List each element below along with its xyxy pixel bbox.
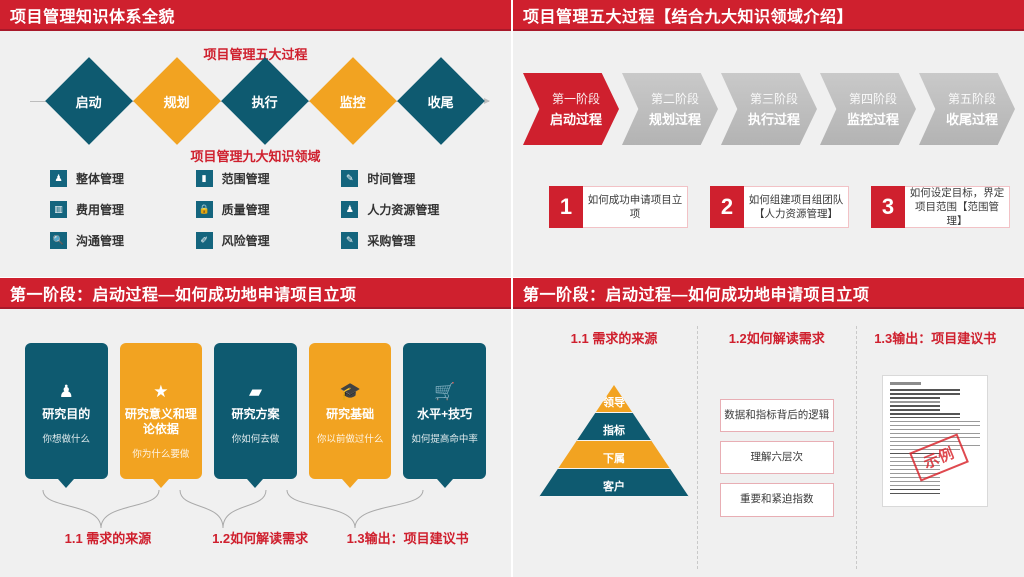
- doc-line: [890, 493, 940, 495]
- growth-chart-icon: ▰: [249, 383, 262, 400]
- detail-columns: 1.1 需求的来源 领导指标下属客户 1.2如何解读需求 数据和指标背后的逻辑理…: [531, 326, 1014, 569]
- knowledge-area-item[interactable]: 🔒质量管理: [196, 201, 342, 218]
- five-process-diagram: 启动规划执行监控收尾: [0, 70, 511, 132]
- topic-text: 如何成功申请项目立项: [583, 186, 688, 228]
- knowledge-area-label: 质量管理: [222, 201, 270, 218]
- research-card-title: 研究意义和理论依据: [120, 407, 203, 437]
- panel3-title: 第一阶段：启动过程—如何成功地申请项目立项: [0, 281, 357, 305]
- knowledge-area-label: 采购管理: [367, 232, 415, 249]
- graduation-cap-icon: 🎓: [339, 383, 360, 400]
- stage-chevron-line1: 第四阶段: [839, 90, 897, 107]
- panel4-title: 第一阶段：启动过程—如何成功地申请项目立项: [513, 281, 870, 305]
- panel-five-stages: 项目管理五大过程【结合九大知识领域介绍】 第一阶段启动过程第二阶段规划过程第三阶…: [513, 0, 1024, 277]
- col2-title: 1.2如何解读需求: [706, 328, 848, 347]
- pen-icon: ✐: [196, 232, 213, 249]
- col3-title: 1.3输出：项目建议书: [865, 328, 1007, 347]
- nine-knowledge-title: 项目管理九大知识领域: [0, 146, 511, 165]
- numbered-topics-row: 1如何成功申请项目立项2如何组建项目组团队【人力资源管理】3如何设定目标，界定项…: [549, 186, 1010, 228]
- research-card-subtitle: 你如何去做: [232, 431, 280, 445]
- topic-number-badge: 2: [710, 186, 744, 228]
- research-card-title: 水平+技巧: [417, 407, 472, 422]
- brace-connectors: [25, 490, 486, 532]
- stage-chevron-line1: 第二阶段: [641, 90, 699, 107]
- pencil-icon: ✎: [341, 232, 358, 249]
- pyramid-level-4[interactable]: 客户: [539, 469, 689, 497]
- process-diamond-label: 收尾: [428, 91, 454, 110]
- search-icon: 🔍: [50, 232, 67, 249]
- panel-stage1-cards: 第一阶段：启动过程—如何成功地申请项目立项 ♟研究目的你想做什么★研究意义和理论…: [0, 278, 511, 577]
- doc-line: [890, 397, 940, 399]
- doc-line: [890, 389, 960, 391]
- research-card-title: 研究基础: [326, 407, 374, 422]
- interpretation-box-3[interactable]: 重要和紧迫指数: [720, 483, 834, 516]
- panel2-header: 项目管理五大过程【结合九大知识领域介绍】: [513, 0, 1024, 31]
- process-diamond-1[interactable]: 启动: [45, 57, 133, 145]
- stakeholder-pyramid: 领导指标下属客户: [539, 385, 689, 497]
- doc-title-bar: [890, 382, 921, 385]
- slide-grid: 项目管理知识体系全貌 项目管理五大过程 启动规划执行监控收尾 项目管理九大知识领…: [0, 0, 1024, 577]
- research-card-4[interactable]: 🎓研究基础你以前做过什么: [309, 343, 392, 479]
- briefcase-icon: ▮: [196, 170, 213, 187]
- doc-line: [890, 429, 960, 431]
- stage-chevron-5[interactable]: 第五阶段收尾过程: [919, 73, 1015, 145]
- topic-number-badge: 1: [549, 186, 583, 228]
- doc-line: [890, 393, 960, 395]
- brace-svg: [25, 490, 486, 532]
- interpretation-box-2[interactable]: 理解六层次: [720, 441, 834, 474]
- doc-line: [890, 417, 960, 419]
- stage-chevron-line2: 启动过程: [540, 109, 602, 128]
- process-diamond-label: 执行: [252, 91, 278, 110]
- person-icon: ♟: [59, 383, 74, 400]
- stage-chevron-1[interactable]: 第一阶段启动过程: [523, 73, 619, 145]
- stage-chevron-line1: 第一阶段: [542, 90, 600, 107]
- proposal-document-thumbnail: 示例: [882, 375, 988, 507]
- process-diamond-label: 启动: [76, 91, 102, 110]
- pyramid-level-label: 领导: [603, 394, 625, 410]
- process-diamond-label: 监控: [340, 91, 366, 110]
- process-diamond-4[interactable]: 监控: [309, 57, 397, 145]
- panel2-title: 项目管理五大过程【结合九大知识领域介绍】: [513, 3, 853, 27]
- research-card-title: 研究目的: [42, 407, 90, 422]
- label-1-2: 1.2如何解读需求: [191, 528, 329, 547]
- pyramid-level-1[interactable]: 领导: [595, 385, 633, 413]
- panel1-header: 项目管理知识体系全貌: [0, 0, 511, 31]
- doc-line: [890, 401, 940, 403]
- pyramid-level-2[interactable]: 指标: [577, 413, 652, 441]
- topic-text: 如何设定目标，界定项目范围【范围管理】: [905, 186, 1010, 228]
- research-card-3[interactable]: ▰研究方案你如何去做: [214, 343, 297, 479]
- doc-line: [890, 489, 940, 491]
- col1-title: 1.1 需求的来源: [539, 328, 689, 347]
- doc-line: [890, 413, 960, 415]
- panel-knowledge-overview: 项目管理知识体系全貌 项目管理五大过程 启动规划执行监控收尾 项目管理九大知识领…: [0, 0, 511, 277]
- panel-stage1-detail: 第一阶段：启动过程—如何成功地申请项目立项 1.1 需求的来源 领导指标下属客户…: [513, 278, 1024, 577]
- label-1-3: 1.3输出：项目建议书: [329, 528, 486, 547]
- numbered-topic-1[interactable]: 1如何成功申请项目立项: [549, 186, 688, 228]
- shopping-cart-icon: 🛒: [434, 383, 455, 400]
- stage-chevron-line1: 第五阶段: [938, 90, 996, 107]
- stage-chevron-2[interactable]: 第二阶段规划过程: [622, 73, 718, 145]
- doc-line: [890, 481, 940, 483]
- process-diamond-label: 规划: [164, 91, 190, 110]
- doc-line: [890, 437, 980, 439]
- research-card-subtitle: 你想做什么: [43, 431, 91, 445]
- topic-text: 如何组建项目组团队【人力资源管理】: [744, 186, 849, 228]
- five-process-title: 项目管理五大过程: [0, 44, 511, 63]
- knowledge-area-label: 人力资源管理: [367, 201, 439, 218]
- numbered-topic-2[interactable]: 2如何组建项目组团队【人力资源管理】: [710, 186, 849, 228]
- stage-chevron-line2: 监控过程: [837, 109, 899, 128]
- research-card-row: ♟研究目的你想做什么★研究意义和理论依据你为什么要做▰研究方案你如何去做🎓研究基…: [25, 343, 486, 479]
- knowledge-area-label: 范围管理: [222, 170, 270, 187]
- research-card-1[interactable]: ♟研究目的你想做什么: [25, 343, 108, 479]
- knowledge-area-item[interactable]: ▥费用管理: [50, 201, 196, 218]
- star-icon: ★: [153, 383, 168, 400]
- doc-line: [890, 425, 980, 427]
- research-card-subtitle: 你以前做过什么: [317, 431, 384, 445]
- lock-icon: 🔒: [196, 201, 213, 218]
- stage-chevron-3[interactable]: 第三阶段执行过程: [721, 73, 817, 145]
- doc-line: [890, 405, 940, 407]
- pyramid-level-3[interactable]: 下属: [558, 441, 671, 469]
- stage-chevron-line2: 执行过程: [738, 109, 800, 128]
- knowledge-area-label: 时间管理: [367, 170, 415, 187]
- pyramid-level-label: 客户: [603, 478, 625, 494]
- knowledge-area-item[interactable]: ▮范围管理: [196, 170, 342, 187]
- interpretation-box-list: 数据和指标背后的逻辑理解六层次重要和紧迫指数: [706, 399, 848, 517]
- stage-chevron-4[interactable]: 第四阶段监控过程: [820, 73, 916, 145]
- interpretation-box-1[interactable]: 数据和指标背后的逻辑: [720, 399, 834, 432]
- research-card-5[interactable]: 🛒水平+技巧如何提高命中率: [403, 343, 486, 479]
- knowledge-area-label: 费用管理: [76, 201, 124, 218]
- stage-chevron-line2: 规划过程: [639, 109, 701, 128]
- person-icon: ♟: [50, 170, 67, 187]
- doc-line: [890, 421, 980, 423]
- research-card-title: 研究方案: [231, 407, 279, 422]
- column-interpret-requirement: 1.2如何解读需求 数据和指标背后的逻辑理解六层次重要和紧迫指数: [697, 326, 856, 569]
- research-card-subtitle: 你为什么要做: [132, 446, 189, 460]
- doc-line: [890, 485, 940, 487]
- pyramid-level-label: 下属: [603, 450, 625, 466]
- knowledge-area-item[interactable]: ✎时间管理: [341, 170, 487, 187]
- knowledge-area-item[interactable]: ♟人力资源管理: [341, 201, 487, 218]
- pencil-icon: ✎: [341, 170, 358, 187]
- stage-chevron-row: 第一阶段启动过程第二阶段规划过程第三阶段执行过程第四阶段监控过程第五阶段收尾过程: [523, 73, 1018, 145]
- knowledge-areas-grid: ♟整体管理▮范围管理✎时间管理▥费用管理🔒质量管理♟人力资源管理🔍沟通管理✐风险…: [50, 170, 487, 249]
- knowledge-area-item[interactable]: ✎采购管理: [341, 232, 487, 249]
- panel1-title: 项目管理知识体系全貌: [0, 3, 175, 27]
- panel3-header: 第一阶段：启动过程—如何成功地申请项目立项: [0, 278, 511, 309]
- knowledge-area-item[interactable]: 🔍沟通管理: [50, 232, 196, 249]
- stage1-subtopic-labels: 1.1 需求的来源 1.2如何解读需求 1.3输出：项目建议书: [25, 528, 486, 547]
- column-output-proposal: 1.3输出：项目建议书: [856, 326, 1015, 569]
- knowledge-area-label: 沟通管理: [76, 232, 124, 249]
- stage-chevron-line1: 第三阶段: [740, 90, 798, 107]
- knowledge-area-label: 风险管理: [222, 232, 270, 249]
- topic-number-badge: 3: [871, 186, 905, 228]
- process-diamond-5[interactable]: 收尾: [397, 57, 485, 145]
- doc-line: [890, 409, 940, 411]
- panel4-header: 第一阶段：启动过程—如何成功地申请项目立项: [513, 278, 1024, 309]
- pyramid-level-label: 指标: [603, 422, 625, 438]
- stage-chevron-line2: 收尾过程: [936, 109, 998, 128]
- research-card-subtitle: 如何提高命中率: [411, 431, 478, 445]
- process-diamond-3[interactable]: 执行: [221, 57, 309, 145]
- knowledge-area-label: 整体管理: [76, 170, 124, 187]
- knowledge-area-item[interactable]: ♟整体管理: [50, 170, 196, 187]
- column-requirement-source: 1.1 需求的来源 领导指标下属客户: [531, 326, 697, 569]
- user-icon: ♟: [341, 201, 358, 218]
- doc-line: [890, 433, 980, 435]
- bank-icon: ▥: [50, 201, 67, 218]
- process-diamond-2[interactable]: 规划: [133, 57, 221, 145]
- numbered-topic-3[interactable]: 3如何设定目标，界定项目范围【范围管理】: [871, 186, 1010, 228]
- label-1-1: 1.1 需求的来源: [25, 528, 191, 547]
- research-card-2[interactable]: ★研究意义和理论依据你为什么要做: [120, 343, 203, 479]
- knowledge-area-item[interactable]: ✐风险管理: [196, 232, 342, 249]
